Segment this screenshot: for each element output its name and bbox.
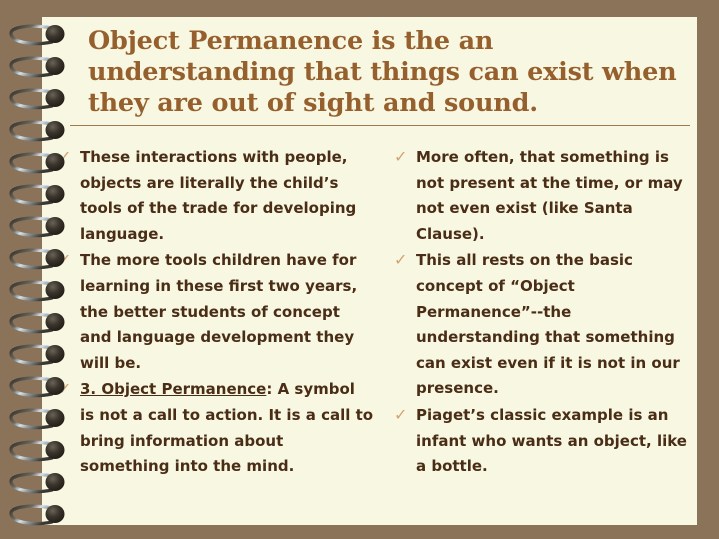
checkmark-bullet-icon: ✓: [58, 379, 74, 399]
list-item-label: These interactions with people, objects …: [80, 145, 374, 247]
checkmark-bullet-icon: ✓: [58, 147, 74, 167]
list-item-label: Piaget’s classic example is an infant wh…: [416, 403, 694, 480]
right-content-column: ✓ More often, that something is not pres…: [394, 145, 694, 481]
list-item-label: The more tools children have for learnin…: [80, 248, 374, 376]
checkmark-bullet-icon: ✓: [394, 147, 410, 167]
left-content-column: ✓ These interactions with people, object…: [58, 145, 374, 481]
title-underline-rule: [70, 125, 690, 126]
notebook-page: Object Permanence is the an understandin…: [42, 17, 697, 525]
list-item: ✓ 3. Object Permanence: A symbol is not …: [58, 377, 374, 479]
list-item-label: 3. Object Permanence: A symbol is not a …: [80, 377, 374, 479]
list-item-underlined-lead: 3. Object Permanence: [80, 380, 266, 398]
page-title: Object Permanence is the an understandin…: [88, 26, 688, 119]
list-item: ✓ Piaget’s classic example is an infant …: [394, 403, 694, 480]
slide-canvas: Object Permanence is the an understandin…: [0, 0, 719, 539]
list-item: ✓ The more tools children have for learn…: [58, 248, 374, 376]
list-item: ✓ These interactions with people, object…: [58, 145, 374, 247]
list-item: ✓ More often, that something is not pres…: [394, 145, 694, 247]
list-item-label: This all rests on the basic concept of “…: [416, 248, 694, 402]
list-item: ✓ This all rests on the basic concept of…: [394, 248, 694, 402]
list-item-label: More often, that something is not presen…: [416, 145, 694, 247]
checkmark-bullet-icon: ✓: [58, 250, 74, 270]
checkmark-bullet-icon: ✓: [394, 405, 410, 425]
checkmark-bullet-icon: ✓: [394, 250, 410, 270]
